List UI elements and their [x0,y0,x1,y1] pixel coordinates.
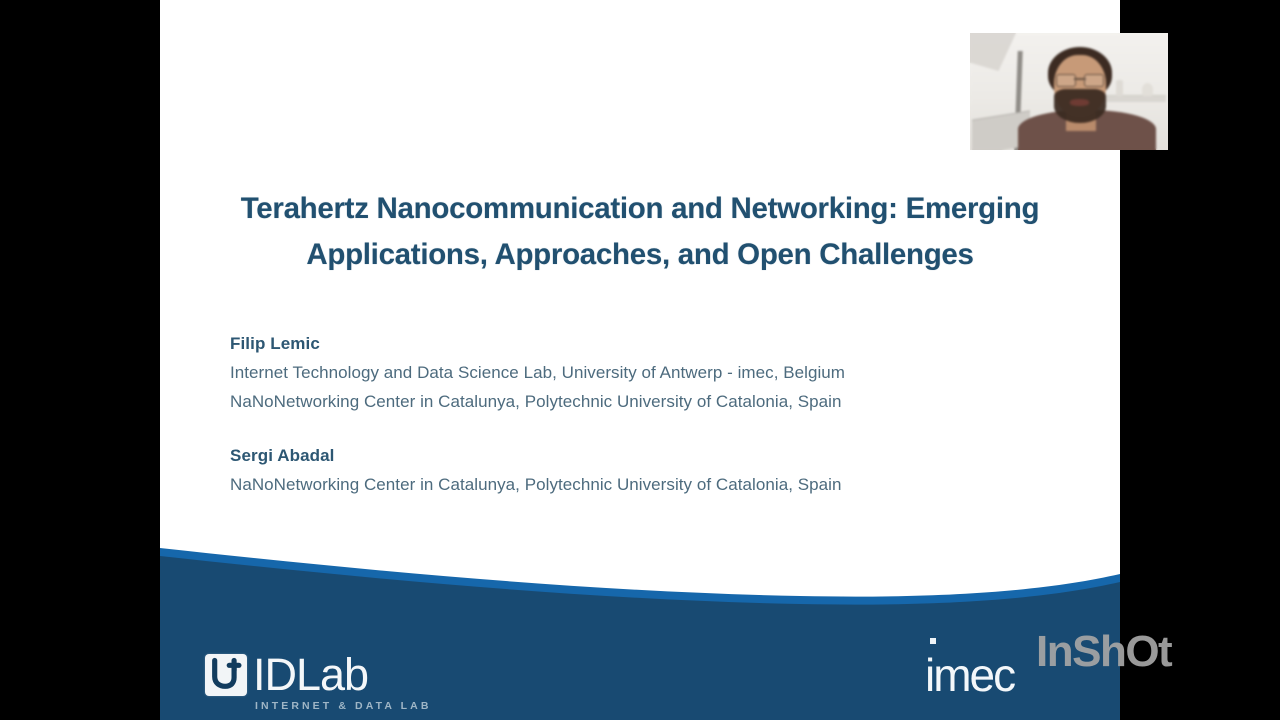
slide-title-line-1: Terahertz Nanocommunication and Networki… [178,186,1102,232]
author-block-2: Sergi Abadal NaNoNetworking Center in Ca… [230,442,1080,499]
webcam-person-glasses-icon [1056,74,1104,85]
glasses-lens-right [1084,74,1104,87]
author-affiliation: NaNoNetworking Center in Catalunya, Poly… [230,470,1080,499]
glasses-lens-left [1056,74,1076,87]
webcam-shelf-object [1116,80,1123,96]
idlab-logo-row: IDLab [205,652,368,697]
webcam-shelf-object [1142,83,1153,96]
slide-footer-wave: IDLab INTERNET & DATA LAB imec [160,530,1120,720]
imec-dot-icon [930,638,936,644]
imec-logo: imec [925,652,1014,698]
letterbox-left [0,0,160,720]
webcam-person-mouth [1070,99,1089,106]
author-list: Filip Lemic Internet Technology and Data… [230,330,1080,525]
webcam-person-beard [1054,89,1106,123]
idlab-tagline: INTERNET & DATA LAB [255,700,432,712]
idlab-wordmark: IDLab [253,652,368,697]
author-affiliation: Internet Technology and Data Science Lab… [230,358,1080,387]
author-block-1: Filip Lemic Internet Technology and Data… [230,330,1080,416]
slide-title: Terahertz Nanocommunication and Networki… [178,186,1102,278]
video-frame: Terahertz Nanocommunication and Networki… [0,0,1280,720]
author-name: Filip Lemic [230,330,1080,358]
author-name: Sergi Abadal [230,442,1080,470]
idlab-logo: IDLab INTERNET & DATA LAB [205,652,432,712]
slide-title-line-2: Applications, Approaches, and Open Chall… [178,232,1102,278]
idlab-mark-icon [205,654,247,696]
inshot-watermark: InShOt [1036,630,1171,674]
author-affiliation: NaNoNetworking Center in Catalunya, Poly… [230,387,1080,416]
idlab-glyph-icon [205,580,247,720]
presenter-webcam[interactable] [970,33,1168,150]
imec-wordmark: imec [925,652,1014,698]
